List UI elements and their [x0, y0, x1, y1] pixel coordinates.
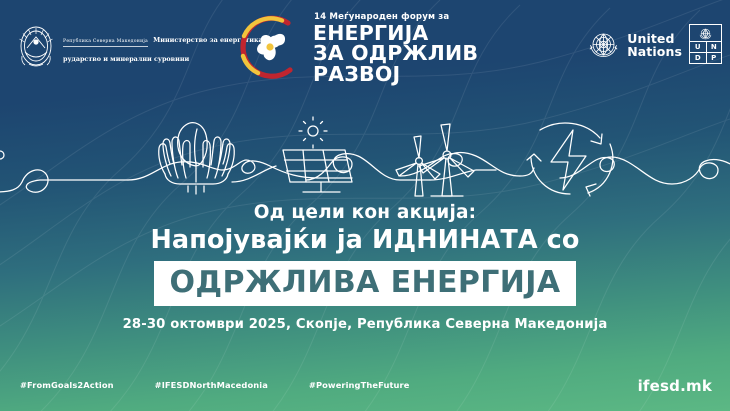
website-link[interactable]: ifesd.mk: [638, 377, 712, 395]
united-nations-wordmark: United Nations: [627, 32, 682, 58]
headline-highlight: ОДРЖЛИВА ЕНЕРГИЈА: [154, 261, 577, 306]
banner-header: Република Северна Македонија Министерств…: [0, 0, 730, 92]
undp-logo: U N D P: [689, 24, 722, 64]
forum-title: ЕНЕРГИЈА ЗА ОДРЖЛИВ РАЗВОЈ: [313, 23, 478, 84]
ministry-text-block: Република Северна Македонија Министерств…: [63, 28, 265, 65]
event-banner: Република Северна Македонија Министерств…: [0, 0, 730, 411]
hashtag-powering-the-future: #PoweringTheFuture: [309, 380, 410, 390]
ifesd-flower-logo-icon: [236, 14, 302, 80]
forum-branding: 14 Меѓународен форум за ЕНЕРГИЈА ЗА ОДРЖ…: [236, 10, 478, 84]
headline-lead: Напојувајќи ја ИДНИНАТА со: [0, 225, 730, 256]
united-nations-emblem-icon: [587, 28, 620, 61]
forum-title-line-3: РАЗВОЈ: [313, 62, 400, 86]
undp-letter-u: U: [689, 41, 706, 52]
energy-recycle-bolt-icon: [527, 123, 613, 196]
macedonia-coat-of-arms-icon: [16, 24, 56, 69]
banner-footer: #FromGoals2Action #IFESDNorthMacedonia #…: [0, 380, 730, 398]
undp-letter-p: P: [706, 52, 723, 64]
undp-letter-n: N: [706, 41, 723, 52]
sun-icon: [299, 117, 327, 148]
event-date-location: 28-30 октомври 2025, Скопје, Република С…: [0, 317, 730, 333]
connector-line-a: [232, 166, 276, 182]
ministry-logo: Република Северна Македонија Министерств…: [16, 24, 265, 69]
energy-illustration-band: [0, 104, 730, 199]
connector-line-right: [560, 157, 730, 184]
undp-letter-d: D: [689, 52, 706, 64]
hashtag-list: #FromGoals2Action #IFESDNorthMacedonia #…: [20, 380, 409, 390]
headline-kicker: Од цели кон акција:: [0, 202, 730, 224]
connector-line-left: [0, 170, 128, 192]
headline-highlight-wrapper: ОДРЖЛИВА ЕНЕРГИЈА: [0, 261, 730, 306]
forum-title-block: 14 Меѓународен форум за ЕНЕРГИЈА ЗА ОДРЖ…: [312, 10, 478, 84]
hands-holding-leaf-icon: [159, 123, 235, 194]
hashtag-ifesd-north-macedonia: #IFESDNorthMacedonia: [155, 380, 268, 390]
hashtag-from-goals-2-action: #FromGoals2Action: [20, 380, 114, 390]
event-copy-block: Од цели кон акција: Напојувајќи ја ИДНИН…: [0, 202, 730, 333]
un-name-line-2: Nations: [627, 44, 682, 59]
undp-emblem-icon: [689, 24, 722, 41]
ministry-name-line-2: рударство и минерални суровини: [63, 55, 189, 63]
connector-line-turbines-in: [520, 168, 534, 176]
connector-line-mid: [128, 160, 352, 180]
united-nations-logo: United Nations: [587, 28, 682, 61]
ministry-country-line: Република Северна Македонија: [63, 39, 148, 47]
wind-turbine-icon: [0, 124, 474, 196]
undp-letter-grid: U N D P: [689, 41, 722, 64]
